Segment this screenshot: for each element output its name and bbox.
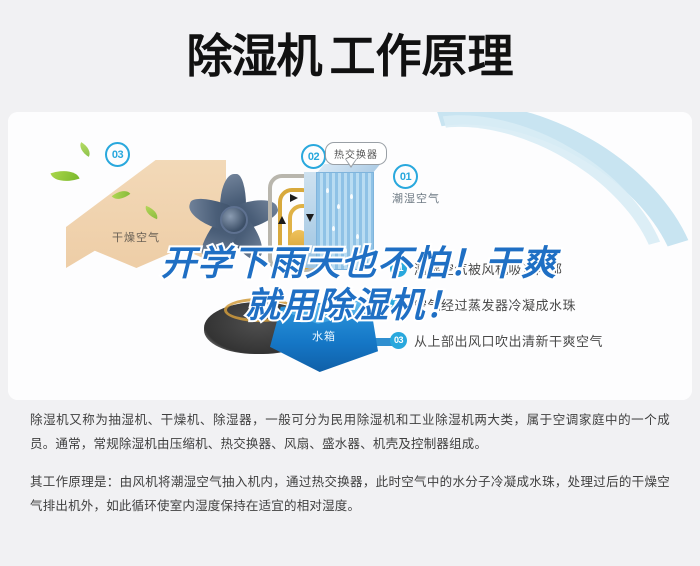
water-droplet-icon bbox=[326, 188, 329, 193]
water-droplet-icon bbox=[332, 226, 335, 231]
water-droplet-icon bbox=[337, 204, 340, 209]
page-title-light: 工作原理 bbox=[330, 30, 514, 82]
body-paragraph-2: 其工作原理是：由风机将潮湿空气抽入机内，通过热交换器，此时空气中的水分子冷凝成水… bbox=[30, 470, 670, 518]
step-item: 03 从上部出风口吹出清新干爽空气 bbox=[390, 322, 686, 358]
water-tank-icon: 水箱 bbox=[270, 298, 378, 372]
water-droplet-icon bbox=[356, 234, 359, 239]
illustration-card: 干燥空气 bbox=[8, 112, 692, 400]
illustration-badge-03: 03 bbox=[105, 142, 130, 167]
flow-arrow-down-icon bbox=[306, 214, 314, 222]
illustration-badge-01: 01 bbox=[393, 164, 418, 189]
page-title-strong: 除湿机 bbox=[187, 30, 322, 82]
step-text-03: 从上部出风口吹出清新干爽空气 bbox=[414, 331, 603, 350]
step-badge-03: 03 bbox=[390, 332, 407, 349]
flow-arrow-right-icon bbox=[290, 194, 298, 202]
step-item: 01 潮湿空气被风机吸进内部 bbox=[390, 250, 686, 286]
step-text-01: 潮湿空气被风机吸进内部 bbox=[414, 259, 563, 278]
page-header: 除湿机工作原理 bbox=[0, 0, 700, 112]
steps-list: 01 潮湿空气被风机吸进内部 02 空气经过蒸发器冷凝成水珠 03 从上部出风口… bbox=[390, 250, 686, 358]
illustration-badge-02: 02 bbox=[301, 144, 326, 169]
callout-pointer-icon bbox=[345, 159, 357, 168]
fan-hub-icon bbox=[220, 206, 248, 234]
page-title: 除湿机工作原理 bbox=[187, 33, 514, 79]
body-copy: 除湿机又称为抽湿机、干燥机、除湿器，一般可分为民用除湿机和工业除湿机两大类，属于… bbox=[0, 408, 700, 526]
dry-air-label: 干燥空气 bbox=[112, 229, 160, 245]
step-item: 02 空气经过蒸发器冷凝成水珠 bbox=[390, 286, 686, 322]
step-badge-01: 01 bbox=[390, 260, 407, 277]
water-droplet-icon bbox=[344, 248, 347, 253]
heat-exchanger-fins bbox=[316, 172, 374, 270]
water-tank-label: 水箱 bbox=[312, 328, 336, 344]
step-badge-02: 02 bbox=[390, 296, 407, 313]
flow-arrow-up-icon bbox=[278, 216, 286, 224]
page-root: 除湿机工作原理 干燥空气 bbox=[0, 0, 700, 566]
humid-air-label: 潮湿空气 bbox=[392, 190, 440, 206]
water-droplet-icon bbox=[350, 194, 353, 199]
heat-exchanger-icon bbox=[304, 164, 378, 272]
fan-icon bbox=[186, 172, 278, 264]
body-paragraph-1: 除湿机又称为抽湿机、干燥机、除湿器，一般可分为民用除湿机和工业除湿机两大类，属于… bbox=[30, 408, 670, 456]
step-text-02: 空气经过蒸发器冷凝成水珠 bbox=[414, 295, 576, 314]
